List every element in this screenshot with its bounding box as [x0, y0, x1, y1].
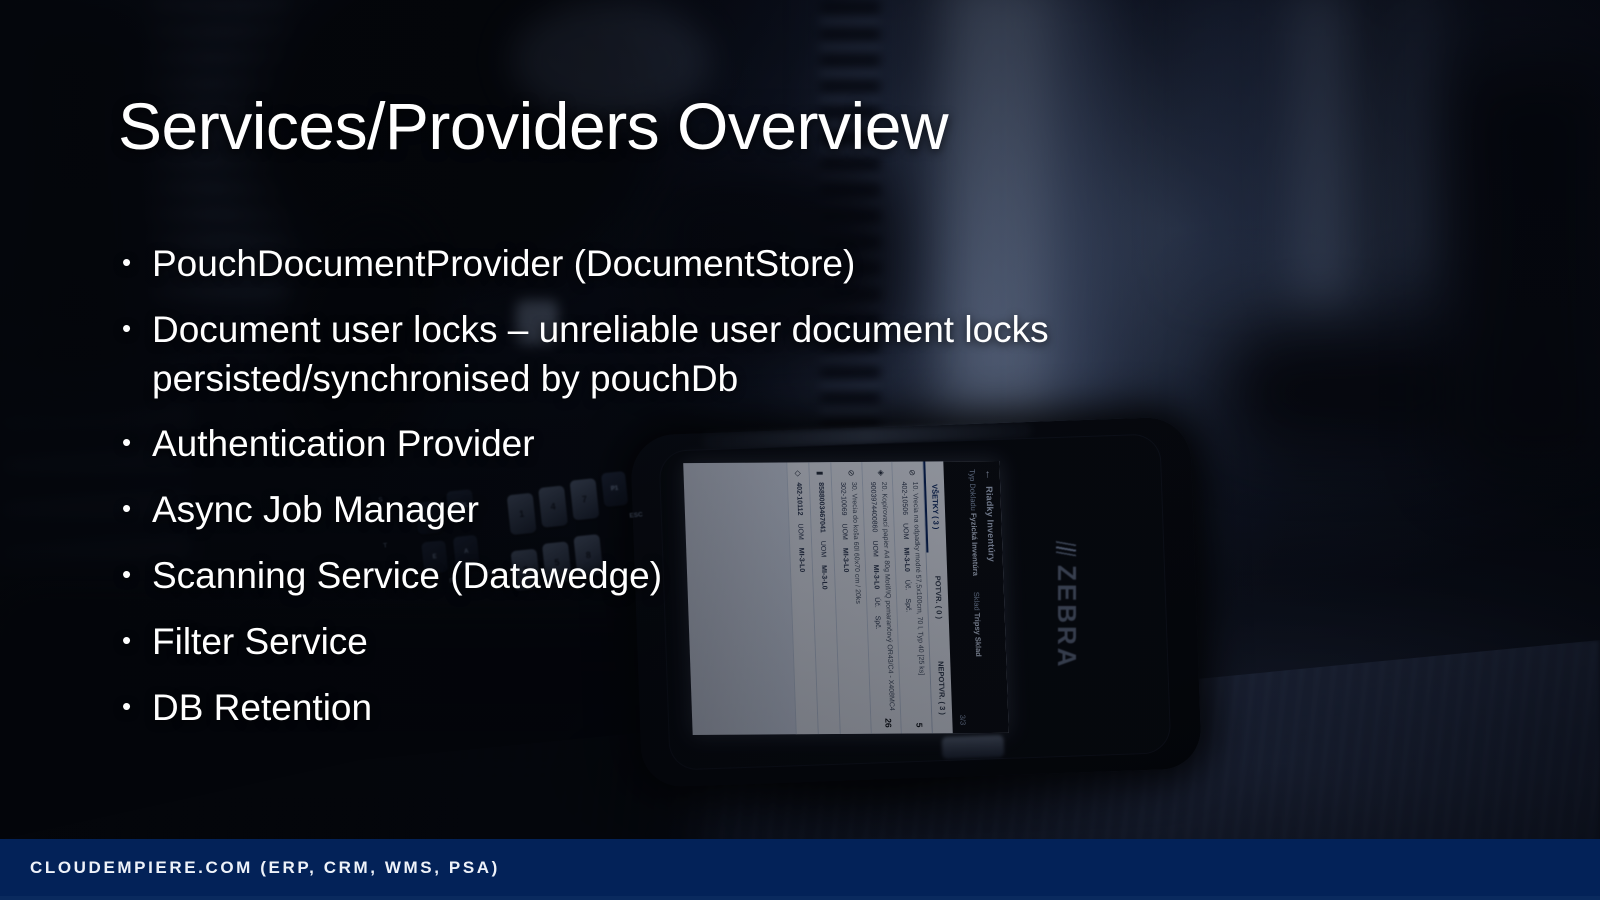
- list-item: • Document user locks – unreliable user …: [122, 306, 1302, 404]
- slide-content: Services/Providers Overview • PouchDocum…: [0, 0, 1600, 900]
- bullet-dot-icon: •: [122, 420, 152, 465]
- list-item-label: Authentication Provider: [152, 420, 1302, 469]
- list-item: • PouchDocumentProvider (DocumentStore): [122, 240, 1302, 289]
- presentation-slide: ← Riadky Inventúry Typ Dokladu Fyzická I…: [0, 0, 1600, 900]
- list-item-label: Async Job Manager: [152, 486, 1302, 535]
- bullet-dot-icon: •: [122, 618, 152, 663]
- list-item: • Scanning Service (Datawedge): [122, 552, 1302, 601]
- footer-bar: CLOUDEMPIERE.COM (ERP, CRM, WMS, PSA): [0, 839, 1600, 896]
- list-item-label: Document user locks – unreliable user do…: [152, 306, 1302, 404]
- page-title: Services/Providers Overview: [118, 88, 948, 164]
- list-item: • Authentication Provider: [122, 420, 1302, 469]
- footer-text: CLOUDEMPIERE.COM (ERP, CRM, WMS, PSA): [30, 858, 500, 878]
- list-item: • DB Retention: [122, 684, 1302, 733]
- bullet-list: • PouchDocumentProvider (DocumentStore) …: [122, 240, 1302, 750]
- list-item: • Filter Service: [122, 618, 1302, 667]
- list-item-label: Filter Service: [152, 618, 1302, 667]
- list-item: • Async Job Manager: [122, 486, 1302, 535]
- bullet-dot-icon: •: [122, 240, 152, 285]
- footer-bottom-strip: [0, 896, 1600, 900]
- bullet-dot-icon: •: [122, 552, 152, 597]
- bullet-dot-icon: •: [122, 486, 152, 531]
- bullet-dot-icon: •: [122, 684, 152, 729]
- list-item-label: DB Retention: [152, 684, 1302, 733]
- bullet-dot-icon: •: [122, 306, 152, 351]
- list-item-label: Scanning Service (Datawedge): [152, 552, 1302, 601]
- list-item-label: PouchDocumentProvider (DocumentStore): [152, 240, 1302, 289]
